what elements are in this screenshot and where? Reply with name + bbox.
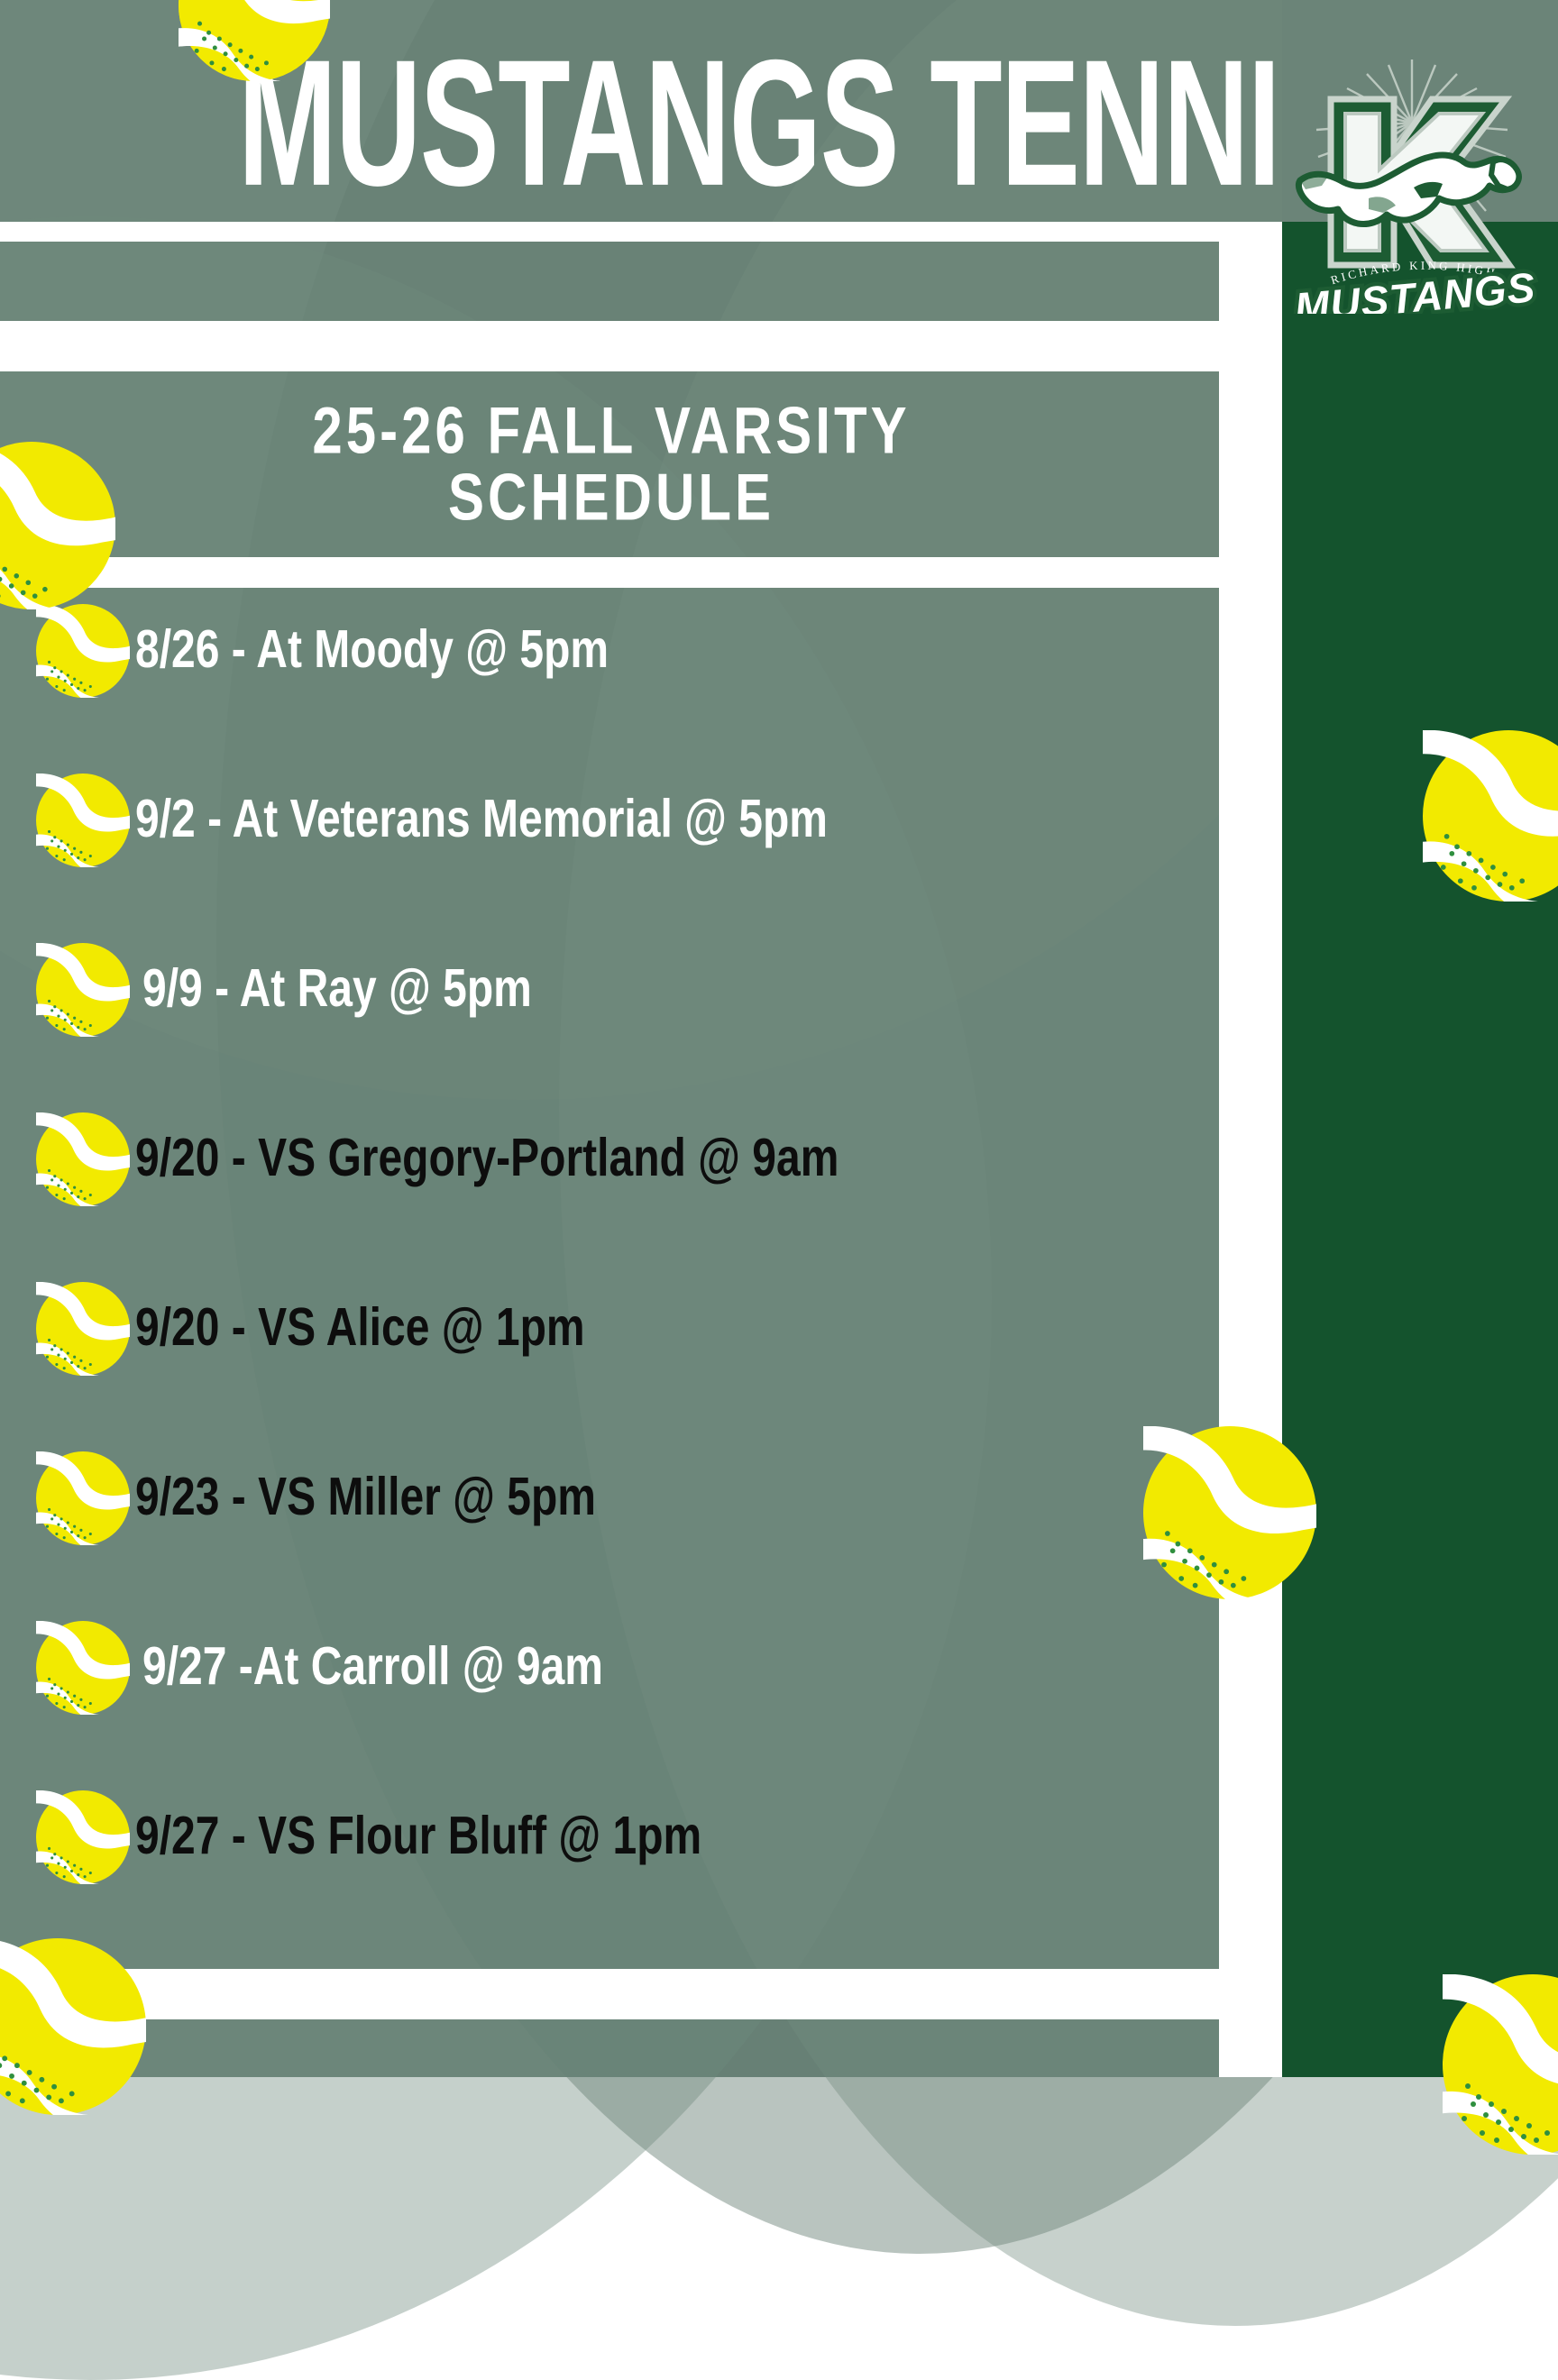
schedule-row-label: 8/26 - At Moody @ 5pm: [135, 618, 609, 680]
schedule-row-label: 9/2 - At Veterans Memorial @ 5pm: [135, 788, 828, 849]
tennis-ball-icon: [0, 1621, 135, 1711]
schedule-row: 9/23 - VS Miller @ 5pm: [0, 1451, 1223, 1542]
tennis-ball-top-header: [179, 0, 330, 81]
tennis-ball-right-bottom: [1443, 1974, 1558, 2155]
tennis-ball-icon: [0, 773, 135, 864]
schedule-row: 9/27 - VS Flour Bluff @ 1pm: [0, 1790, 1223, 1881]
tennis-ball-icon: [0, 943, 135, 1033]
tennis-ball-left-upper: [0, 442, 115, 609]
divider-bottom: [0, 1969, 1282, 2019]
tennis-ball-right-mid-upper: [1423, 730, 1558, 902]
divider-under-header: [0, 222, 1282, 242]
schedule-row-label: 9/27 -At Carroll @ 9am: [142, 1635, 603, 1697]
schedule-row-label: 9/27 - VS Flour Bluff @ 1pm: [135, 1805, 701, 1866]
subtitle-block: 25-26 FALL VARSITY SCHEDULE: [0, 371, 1223, 557]
tennis-ball-icon: [0, 1451, 135, 1542]
schedule-row: 9/9 - At Ray @ 5pm: [0, 943, 1223, 1033]
tennis-ball-left-bottom: [0, 1938, 146, 2115]
schedule-row-label: 9/23 - VS Miller @ 5pm: [135, 1466, 596, 1527]
divider-vertical-right-top: [1219, 222, 1282, 242]
tennis-ball-center-right: [1143, 1426, 1316, 1599]
schedule-list: 8/26 - At Moody @ 5pm 9/2 - At Veterans …: [0, 604, 1223, 1965]
schedule-row-label: 9/20 - VS Alice @ 1pm: [135, 1296, 585, 1358]
tennis-ball-icon: [0, 1282, 135, 1372]
schedule-row-label: 9/9 - At Ray @ 5pm: [142, 957, 532, 1019]
schedule-row-label: 9/20 - VS Gregory-Portland @ 9am: [135, 1127, 839, 1188]
school-logo: RICHARD KING HIGH SCHOOL MUSTANGS MUSTAN…: [1278, 43, 1545, 314]
tennis-ball-icon: [0, 604, 135, 694]
schedule-row: 9/2 - At Veterans Memorial @ 5pm: [0, 773, 1223, 864]
schedule-row: 9/20 - VS Gregory-Portland @ 9am: [0, 1112, 1223, 1203]
divider-above-subtitle: [0, 321, 1282, 371]
schedule-row: 9/27 -At Carroll @ 9am: [0, 1621, 1223, 1711]
subtitle-line-2: SCHEDULE: [448, 457, 774, 538]
tennis-ball-icon: [0, 1790, 135, 1881]
schedule-row: 8/26 - At Moody @ 5pm: [0, 604, 1223, 694]
schedule-row: 9/20 - VS Alice @ 1pm: [0, 1282, 1223, 1372]
divider-vertical-right: [1219, 242, 1282, 2077]
tennis-ball-icon: [0, 1112, 135, 1203]
divider-below-subtitle: [0, 557, 1282, 588]
page-title: MUSTANGS TENNIS: [238, 27, 945, 218]
